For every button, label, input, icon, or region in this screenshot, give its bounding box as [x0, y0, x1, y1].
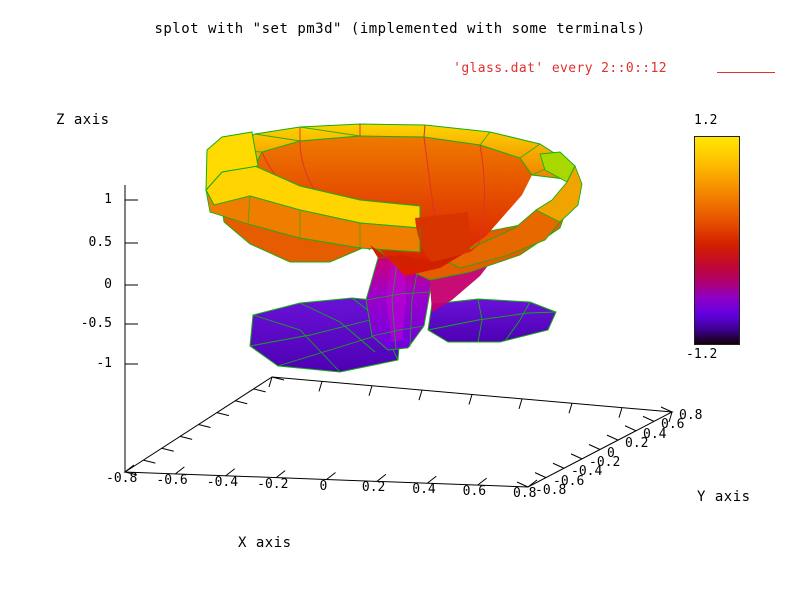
z-axis-ticks: [125, 200, 138, 364]
x-axis-ticks: [125, 465, 537, 487]
gnuplot-canvas: splot with "set pm3d" (implemented with …: [0, 0, 800, 600]
plot-vector-layer: [0, 0, 800, 600]
y-axis-ticks: [517, 407, 672, 487]
surface-bowl: [206, 124, 582, 280]
base-back-ticks: [125, 377, 672, 475]
